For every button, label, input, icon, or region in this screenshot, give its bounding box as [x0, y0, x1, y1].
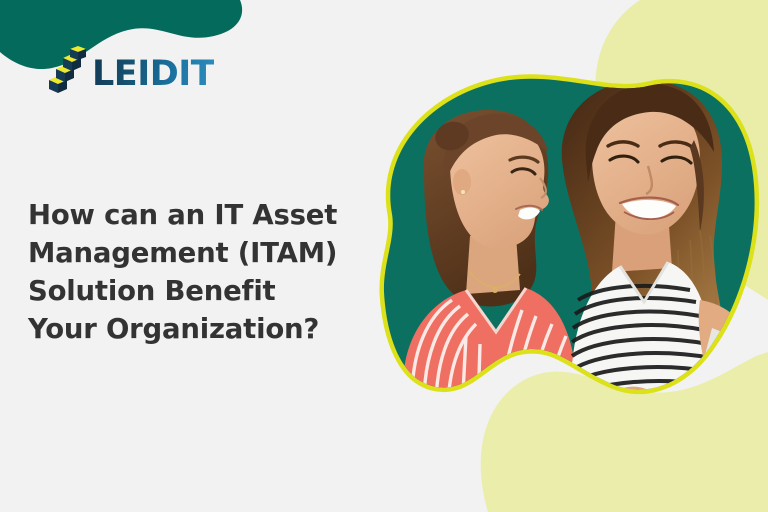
logo-wordmark: LEIDIT	[92, 57, 214, 92]
headline-line-3: Solution Benefit	[28, 272, 388, 310]
headline-line-4: Your Organization?	[28, 310, 388, 348]
staircase-cubes-icon	[47, 46, 91, 94]
leidit-logo[interactable]: LEIDIT	[47, 46, 214, 94]
page-title: How can an IT Asset Management (ITAM) So…	[28, 196, 388, 348]
headline-line-1: How can an IT Asset	[28, 196, 388, 234]
blog-hero-banner: LEIDIT How can an IT Asset Management (I…	[0, 0, 768, 512]
headline-line-2: Management (ITAM)	[28, 234, 388, 272]
